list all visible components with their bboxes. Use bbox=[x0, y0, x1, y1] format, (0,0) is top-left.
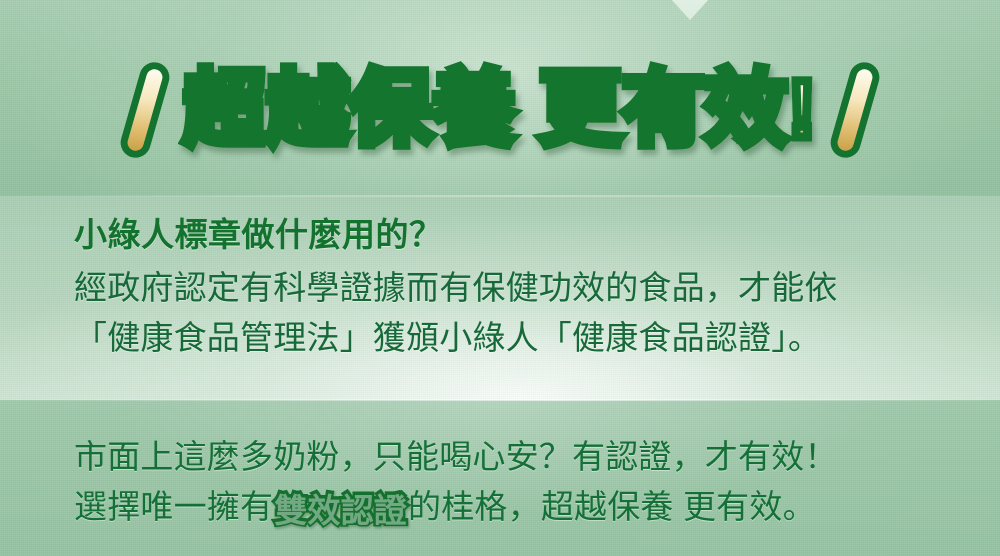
section-two-line-2-after: 的桂格，超越保養 更有效。 bbox=[408, 488, 816, 525]
section-two-highlight-badge: 雙效認證 bbox=[274, 493, 407, 526]
section-one-line-2: 「健康食品管理法」獲頒小綠人「健康食品認證」。 bbox=[74, 313, 964, 363]
headline-text: 超越保養 更有效! bbox=[183, 69, 816, 151]
background-divider-upper bbox=[0, 195, 1000, 197]
section-one-line-1: 經政府認定有科學證據而有保健功效的食品，才能依 bbox=[74, 263, 964, 313]
section-one-subheading: 小綠人標章做什麼用的？ bbox=[74, 214, 964, 255]
decorative-slash-right-icon bbox=[835, 67, 874, 152]
section-one: 小綠人標章做什麼用的？ 經政府認定有科學證據而有保健功效的食品，才能依 「健康食… bbox=[74, 214, 964, 362]
section-two-line-2: 選擇唯一擁有雙效認證的桂格，超越保養 更有效。 bbox=[74, 482, 964, 532]
section-two: 市面上這麼多奶粉，只能喝心安？有認證，才有效！ 選擇唯一擁有雙效認證的桂格，超越… bbox=[74, 432, 964, 531]
section-two-line-1: 市面上這麼多奶粉，只能喝心安？有認證，才有效！ bbox=[74, 432, 964, 482]
decorative-slash-left-icon bbox=[126, 67, 165, 152]
section-two-line-2-before: 選擇唯一擁有 bbox=[74, 488, 273, 525]
hero-headline: 超越保養 更有效! bbox=[0, 54, 1000, 166]
promo-page: 超越保養 更有效! 小綠人標章做什麼用的？ 經政府認定有科學證據而有保健功效的食… bbox=[0, 0, 1000, 556]
background-divider-lower bbox=[0, 399, 1000, 401]
